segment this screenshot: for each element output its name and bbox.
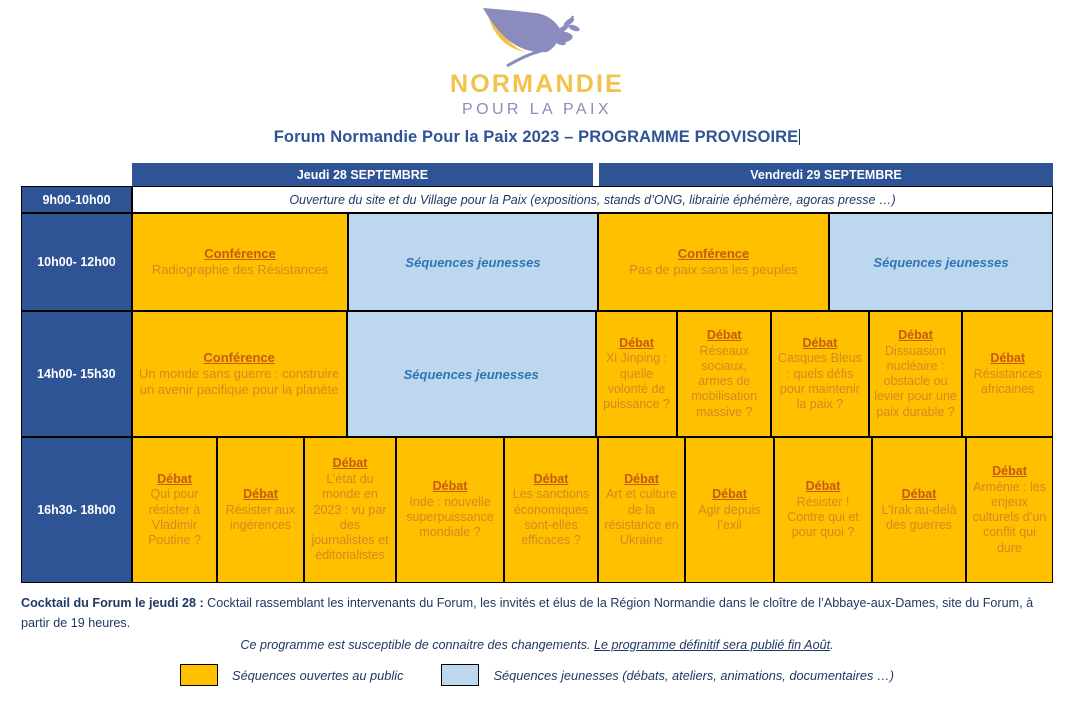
cell-body: Un monde sans guerre : construire un ave… — [137, 366, 342, 399]
cell-debat-resistances-africaines[interactable]: Débat Résistances africaines — [962, 311, 1053, 437]
cell-lead: Conférence — [203, 350, 275, 366]
cell-lead: Débat — [433, 479, 468, 495]
cell-debat-agir-depuis-exil[interactable]: Débat Agir depuis l’exil — [685, 437, 774, 583]
cell-debat-dissuasion-nucleaire[interactable]: Débat Dissuasion nucléaire : obstacle ou… — [869, 311, 963, 437]
cell-conference-pas-de-paix[interactable]: Conférence Pas de paix sans les peuples — [598, 213, 829, 311]
disclaimer-text: Ce programme est susceptible de connaitr… — [240, 638, 594, 652]
cell-lead: Débat — [619, 336, 654, 352]
cell-lead: Débat — [707, 328, 742, 344]
cell-lead: Débat — [990, 351, 1025, 367]
cell-body: Xi Jinping : quelle volonté de puissance… — [601, 351, 673, 412]
cell-body: Radiographie des Résistances — [152, 262, 328, 278]
cell-debat-art-culture-ukraine[interactable]: Débat Art et culture de la résistance en… — [598, 437, 685, 583]
cell-lead: Débat — [534, 472, 569, 488]
cell-body: L’état du monde en 2023 : vu par des jou… — [309, 472, 391, 564]
table-row-14h00: 14h00- 15h30 Conférence Un monde sans gu… — [21, 311, 1053, 437]
brand-logo: NORMANDIE POUR LA PAIX — [0, 4, 1074, 116]
time-label-10h00: 10h00- 12h00 — [21, 213, 132, 311]
cell-sequences-jeunesses-thursday-pm[interactable]: Séquences jeunesses — [347, 311, 596, 437]
day-header-friday: Vendredi 29 SEPTEMBRE — [599, 163, 1053, 186]
cell-lead: Débat — [803, 336, 838, 352]
legend-swatch-public — [180, 664, 218, 686]
cell-debat-etat-du-monde[interactable]: Débat L’état du monde en 2023 : vu par d… — [304, 437, 396, 583]
cell-body: Arménie : les enjeux culturels d’un conf… — [971, 480, 1048, 556]
page-title-text: Forum Normandie Pour la Paix 2023 – PROG… — [274, 128, 799, 146]
cell-lead: Débat — [898, 328, 933, 344]
cell-lead: Débat — [992, 464, 1027, 480]
cell-conference-monde-sans-guerre[interactable]: Conférence Un monde sans guerre : constr… — [132, 311, 347, 437]
cell-body: Qui pour résister à Vladimir Poutine ? — [137, 487, 212, 548]
cell-debat-resister-contre-qui[interactable]: Débat Résister ! Contre qui et pour quoi… — [774, 437, 872, 583]
table-row-9h00: 9h00-10h00 Ouverture du site et du Villa… — [21, 186, 1053, 213]
disclaimer-end: . — [830, 638, 834, 652]
table-row-16h30: 16h30- 18h00 Débat Qui pour résister à V… — [21, 437, 1053, 583]
cell-debat-sanctions-economiques[interactable]: Débat Les sanctions économiques sont-ell… — [504, 437, 598, 583]
cell-body: Résistances africaines — [967, 367, 1048, 398]
cell-lead: Débat — [243, 487, 278, 503]
cell-body: Réseaux sociaux, armes de mobilisation m… — [682, 344, 766, 420]
time-label-9h00: 9h00-10h00 — [21, 186, 132, 213]
cell-lead: Conférence — [678, 246, 750, 262]
cell-lead: Débat — [624, 472, 659, 488]
cell-debat-armenie[interactable]: Débat Arménie : les enjeux culturels d’u… — [966, 437, 1053, 583]
table-row-10h00: 10h00- 12h00 Conférence Radiographie des… — [21, 213, 1053, 311]
cell-body: L’Irak au-delà des guerres — [877, 503, 961, 534]
cell-ouverture-site: Ouverture du site et du Village pour la … — [132, 186, 1053, 213]
legend-label-youth: Séquences jeunesses (débats, ateliers, a… — [493, 668, 893, 683]
legend-label-public: Séquences ouvertes au public — [232, 668, 403, 683]
cell-lead: Débat — [157, 472, 192, 488]
cell-body: Dissuasion nucléaire : obstacle ou levie… — [874, 344, 958, 420]
cell-lead: Débat — [806, 479, 841, 495]
cell-body: Les sanctions économiques sont-elles eff… — [509, 487, 593, 548]
text-cursor — [799, 129, 800, 145]
cell-body: Art et culture de la résistance en Ukrai… — [603, 487, 680, 548]
time-label-16h30: 16h30- 18h00 — [21, 437, 132, 583]
cell-lead: Débat — [712, 487, 747, 503]
cell-debat-vladimir-poutine[interactable]: Débat Qui pour résister à Vladimir Pouti… — [132, 437, 217, 583]
disclaimer-underlined: Le programme définitif sera publié fin A… — [594, 638, 830, 652]
logo-wordmark: NORMANDIE — [450, 72, 624, 97]
header-corner-blank — [21, 163, 132, 186]
cocktail-note-label: Cocktail du Forum le jeudi 28 : — [21, 596, 204, 610]
cell-conference-radiographie[interactable]: Conférence Radiographie des Résistances — [132, 213, 348, 311]
page-title: Forum Normandie Pour la Paix 2023 – PROG… — [0, 128, 1074, 147]
time-label-14h00: 14h00- 15h30 — [21, 311, 132, 437]
dove-olive-branch-icon — [477, 4, 597, 70]
cocktail-note: Cocktail du Forum le jeudi 28 : Cocktail… — [21, 594, 1053, 633]
cell-debat-reseaux-sociaux[interactable]: Débat Réseaux sociaux, armes de mobilisa… — [677, 311, 771, 437]
cell-body: Pas de paix sans les peuples — [629, 262, 797, 278]
legend: Séquences ouvertes au public Séquences j… — [0, 664, 1074, 686]
table-header-row: Jeudi 28 SEPTEMBRE Vendredi 29 SEPTEMBRE — [21, 163, 1053, 186]
legend-swatch-youth — [441, 664, 479, 686]
cell-debat-xi-jinping[interactable]: Débat Xi Jinping : quelle volonté de pui… — [596, 311, 678, 437]
programme-disclaimer: Ce programme est susceptible de connaitr… — [21, 638, 1053, 652]
logo-tagline: POUR LA PAIX — [462, 102, 612, 118]
cell-lead: Débat — [902, 487, 937, 503]
cell-body: Agir depuis l’exil — [690, 503, 769, 534]
programme-table: Jeudi 28 SEPTEMBRE Vendredi 29 SEPTEMBRE… — [21, 163, 1053, 583]
cell-body: Résister aux ingérences — [222, 503, 299, 534]
cell-debat-casques-bleus[interactable]: Débat Casques Bleus : quels défis pour m… — [771, 311, 869, 437]
cell-debat-irak-au-dela[interactable]: Débat L’Irak au-delà des guerres — [872, 437, 966, 583]
cell-body: Casques Bleus : quels défis pour mainten… — [776, 351, 864, 412]
cell-debat-resister-ingerences[interactable]: Débat Résister aux ingérences — [217, 437, 304, 583]
cell-lead: Débat — [333, 456, 368, 472]
cell-lead: Conférence — [204, 246, 276, 262]
cell-sequences-jeunesses-thursday-am[interactable]: Séquences jeunesses — [348, 213, 598, 311]
cell-body: Résister ! Contre qui et pour quoi ? — [779, 495, 867, 541]
cell-sequences-jeunesses-friday-am[interactable]: Séquences jeunesses — [829, 213, 1053, 311]
cell-debat-inde-superpuissance[interactable]: Débat Inde : nouvelle superpuissance mon… — [396, 437, 504, 583]
cell-body: Inde : nouvelle superpuissance mondiale … — [401, 495, 499, 541]
day-header-thursday: Jeudi 28 SEPTEMBRE — [132, 163, 593, 186]
